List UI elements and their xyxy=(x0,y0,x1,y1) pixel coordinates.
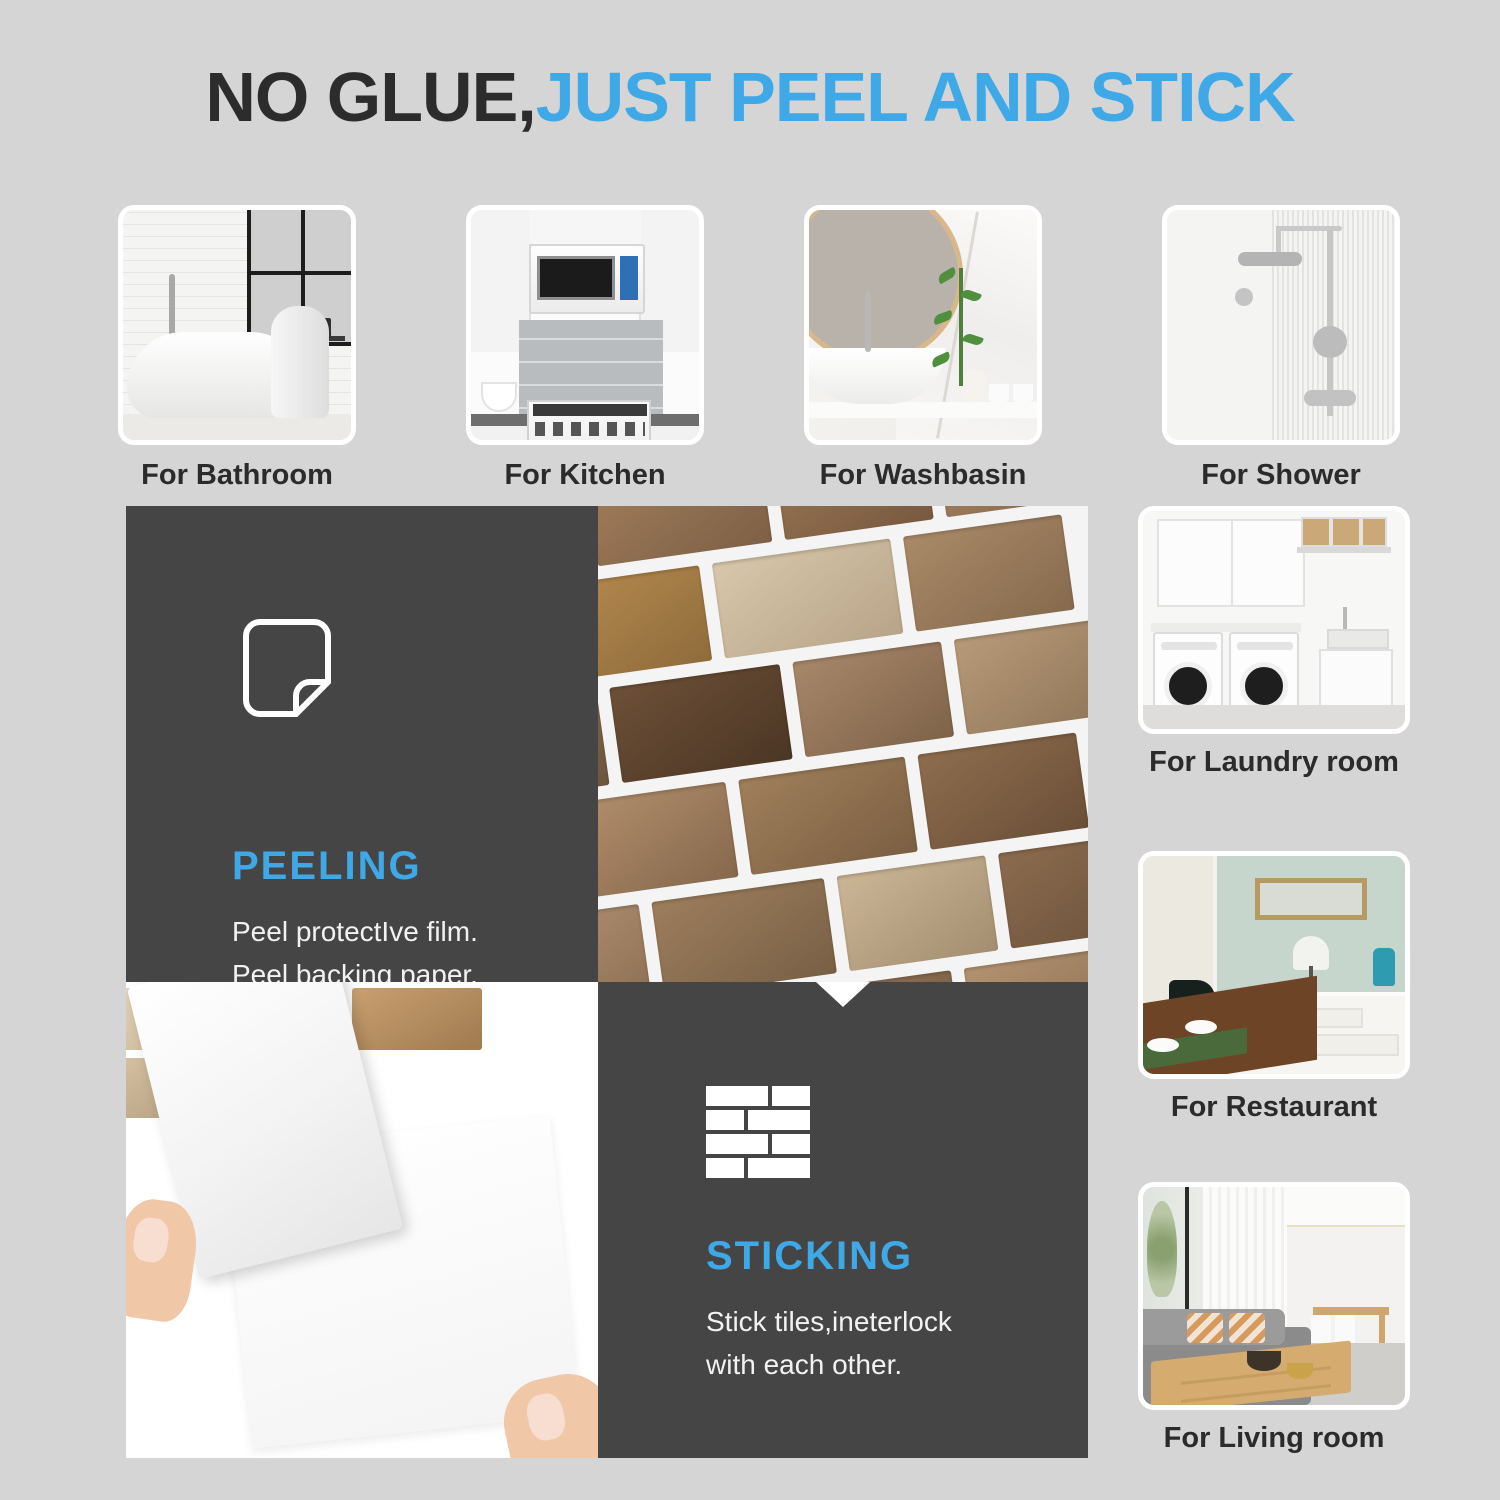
thumbnail-bathroom[interactable]: For Bathroom xyxy=(118,205,356,492)
washbasin-photo-frame xyxy=(804,205,1042,445)
tile-mosaic-art xyxy=(598,506,1088,982)
use-case-thumbnail-strip: For Bathroom xyxy=(118,205,1408,495)
headline-part-2: JUST PEEL AND STICK xyxy=(536,58,1295,136)
thumbnail-caption: For Shower xyxy=(1162,459,1400,492)
rail-caption: For Laundry room xyxy=(1138,746,1410,779)
flow-arrow-down-icon xyxy=(816,982,870,1007)
living-room-photo-frame xyxy=(1138,1182,1410,1410)
rail-item-living-room[interactable]: For Living room xyxy=(1138,1182,1410,1455)
instruction-collage: PEELING Peel protectIve film. Peel backi… xyxy=(126,506,1088,1458)
bathroom-photo-frame xyxy=(118,205,356,445)
rail-caption: For Living room xyxy=(1138,1422,1410,1455)
brick-wall-icon xyxy=(706,1086,810,1185)
thumbnail-caption: For Washbasin xyxy=(804,459,1042,492)
sticking-title: STICKING xyxy=(706,1234,913,1279)
peel-demo-photo xyxy=(126,982,598,1458)
page-title: NO GLUE,JUST PEEL AND STICK xyxy=(0,62,1500,132)
thumbnail-washbasin[interactable]: For Washbasin xyxy=(804,205,1042,492)
thumbnail-kitchen[interactable]: For Kitchen xyxy=(466,205,704,492)
headline-part-1: NO GLUE, xyxy=(205,58,535,136)
peeling-body: Peel protectIve film. Peel backing paper… xyxy=(232,910,478,982)
rail-item-laundry-room[interactable]: For Laundry room xyxy=(1138,506,1410,779)
tile-mosaic-photo xyxy=(598,506,1088,982)
thumbnail-shower[interactable]: For Shower xyxy=(1162,205,1400,492)
shower-scene xyxy=(1167,210,1395,440)
restaurant-scene xyxy=(1143,856,1405,1074)
peel-sheet-icon xyxy=(234,618,340,727)
sticking-body: Stick tiles,ineterlock with each other. xyxy=(706,1300,952,1387)
thumbnail-caption: For Kitchen xyxy=(466,459,704,492)
sticking-step-panel: STICKING Stick tiles,ineterlock with eac… xyxy=(598,982,1088,1458)
peeling-title: PEELING xyxy=(232,844,422,889)
shower-photo-frame xyxy=(1162,205,1400,445)
thumbnail-caption: For Bathroom xyxy=(118,459,356,492)
kitchen-scene xyxy=(471,210,699,440)
peeling-step-panel: PEELING Peel protectIve film. Peel backi… xyxy=(126,506,598,982)
laundry-photo-frame xyxy=(1138,506,1410,734)
bathroom-scene xyxy=(123,210,351,440)
kitchen-photo-frame xyxy=(466,205,704,445)
infographic-page: NO GLUE,JUST PEEL AND STICK xyxy=(0,0,1500,1500)
laundry-room-scene xyxy=(1143,511,1405,729)
washbasin-scene xyxy=(809,210,1037,440)
peel-demo-art xyxy=(126,982,598,1458)
rail-caption: For Restaurant xyxy=(1138,1091,1410,1124)
living-room-scene xyxy=(1143,1187,1405,1405)
rail-item-restaurant[interactable]: For Restaurant xyxy=(1138,851,1410,1124)
restaurant-photo-frame xyxy=(1138,851,1410,1079)
